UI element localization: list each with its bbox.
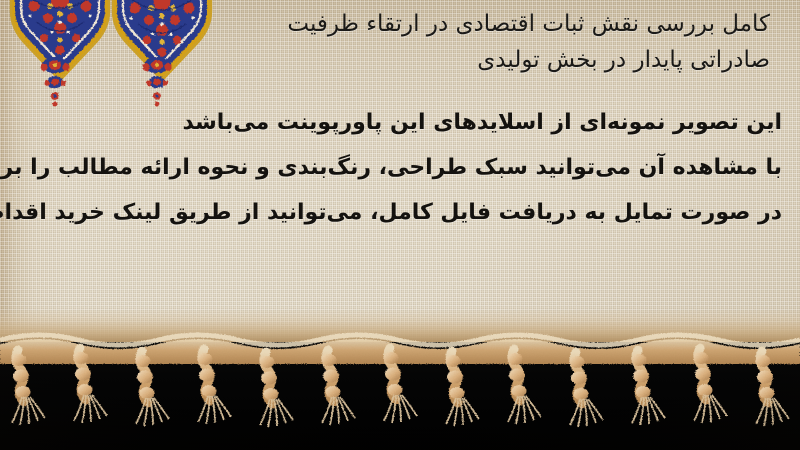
slide-body-line-3: در صورت تمایل به دریافت فایل کامل، می‌تو… xyxy=(12,190,782,235)
slide-title: کامل بررسی نقش ثبات اقتصادی در ارتقاء ظر… xyxy=(170,6,770,78)
slide-title-line-1: کامل بررسی نقش ثبات اقتصادی در ارتقاء ظر… xyxy=(170,6,770,42)
slide-canvas: کامل بررسی نقش ثبات اقتصادی در ارتقاء ظر… xyxy=(0,0,800,450)
slide-body-line-1: این تصویر نمونه‌ای از اسلایدهای این پاور… xyxy=(12,100,782,145)
slide-title-line-2: صادراتی پایدار در بخش تولیدی xyxy=(170,42,770,78)
slide-body-line-2: با مشاهده آن می‌توانید سبک طراحی، رنگ‌بن… xyxy=(12,145,782,190)
slide-body: این تصویر نمونه‌ای از اسلایدهای این پاور… xyxy=(12,100,782,235)
carpet-fringe xyxy=(0,300,800,450)
carpet-fringe-icon xyxy=(0,300,800,450)
